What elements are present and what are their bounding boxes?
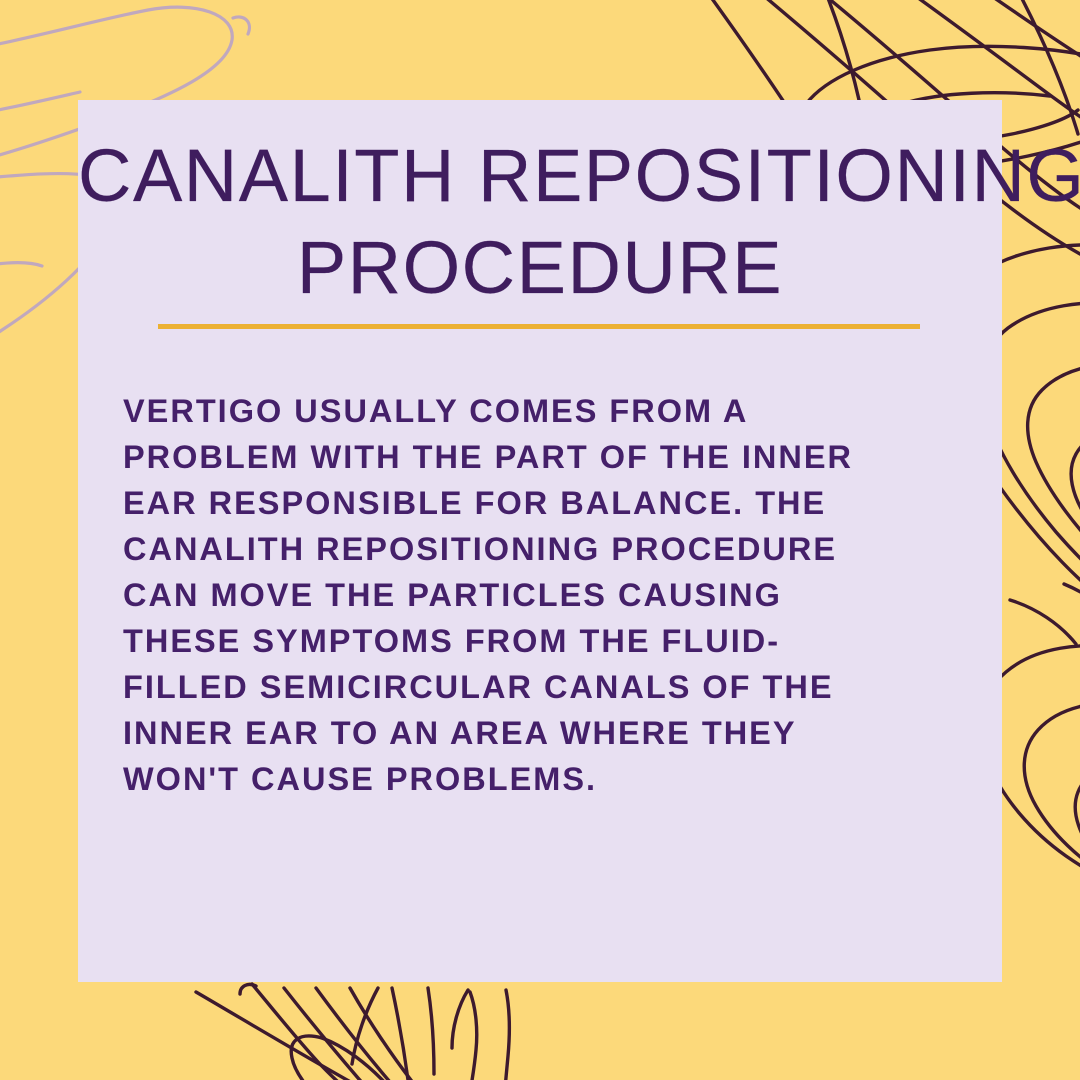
title-line-1: CANALITH REPOSITIONING [78,130,1002,222]
body-line-4: CANALITH REPOSITIONING PROCEDURE [123,526,963,572]
poster-canvas: CANALITH REPOSITIONING PROCEDURE VERTIGO… [0,0,1080,1080]
page-title: CANALITH REPOSITIONING PROCEDURE [78,130,1002,314]
body-line-6: THESE SYMPTOMS FROM THE FLUID- [123,618,963,664]
body-line-8: INNER EAR TO AN AREA WHERE THEY [123,710,963,756]
body-line-7: FILLED SEMICIRCULAR CANALS OF THE [123,664,963,710]
title-line-2: PROCEDURE [78,222,1002,314]
content-card: CANALITH REPOSITIONING PROCEDURE VERTIGO… [78,100,1002,982]
contour-group-bottom-center [196,984,509,1080]
body-line-3: EAR RESPONSIBLE FOR BALANCE. THE [123,480,963,526]
body-line-2: PROBLEM WITH THE PART OF THE INNER [123,434,963,480]
gold-divider-rule [158,324,920,329]
body-line-5: CAN MOVE THE PARTICLES CAUSING [123,572,963,618]
body-paragraph: VERTIGO USUALLY COMES FROM A PROBLEM WIT… [123,388,963,802]
body-line-9: WON'T CAUSE PROBLEMS. [123,756,963,802]
body-line-1: VERTIGO USUALLY COMES FROM A [123,388,963,434]
